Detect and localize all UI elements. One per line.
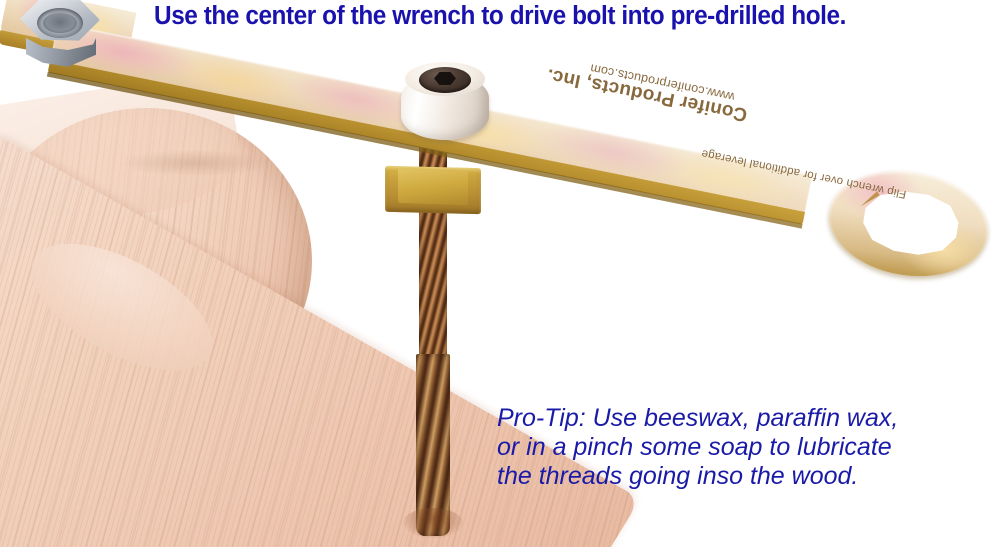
nylon-washer <box>401 62 489 144</box>
wrench-box-end <box>820 160 1000 297</box>
headline-caption: Use the center of the wrench to drive bo… <box>23 2 978 31</box>
conifer-wrench: Conifer Products, Inc. www.coniferproduc… <box>0 0 1000 300</box>
bolt-drive-collar-face <box>398 169 468 205</box>
protip-caption: Pro-Tip: Use beeswax, paraffin wax, or i… <box>497 404 967 491</box>
hex-nut-side <box>26 38 96 78</box>
wrench-brand-engraving: Conifer Products, Inc. <box>545 63 749 125</box>
protip-line-3: the threads going inso the wood. <box>497 462 967 491</box>
protip-line-2: or in a pinch some soap to lubricate <box>497 433 967 462</box>
instruction-photo: Conifer Products, Inc. www.coniferproduc… <box>0 0 1000 547</box>
wrench-url-engraving: www.coniferproducts.com <box>589 61 736 104</box>
protip-line-1: Pro-Tip: Use beeswax, paraffin wax, <box>497 404 967 433</box>
bolt-entry-shadow <box>403 508 463 538</box>
